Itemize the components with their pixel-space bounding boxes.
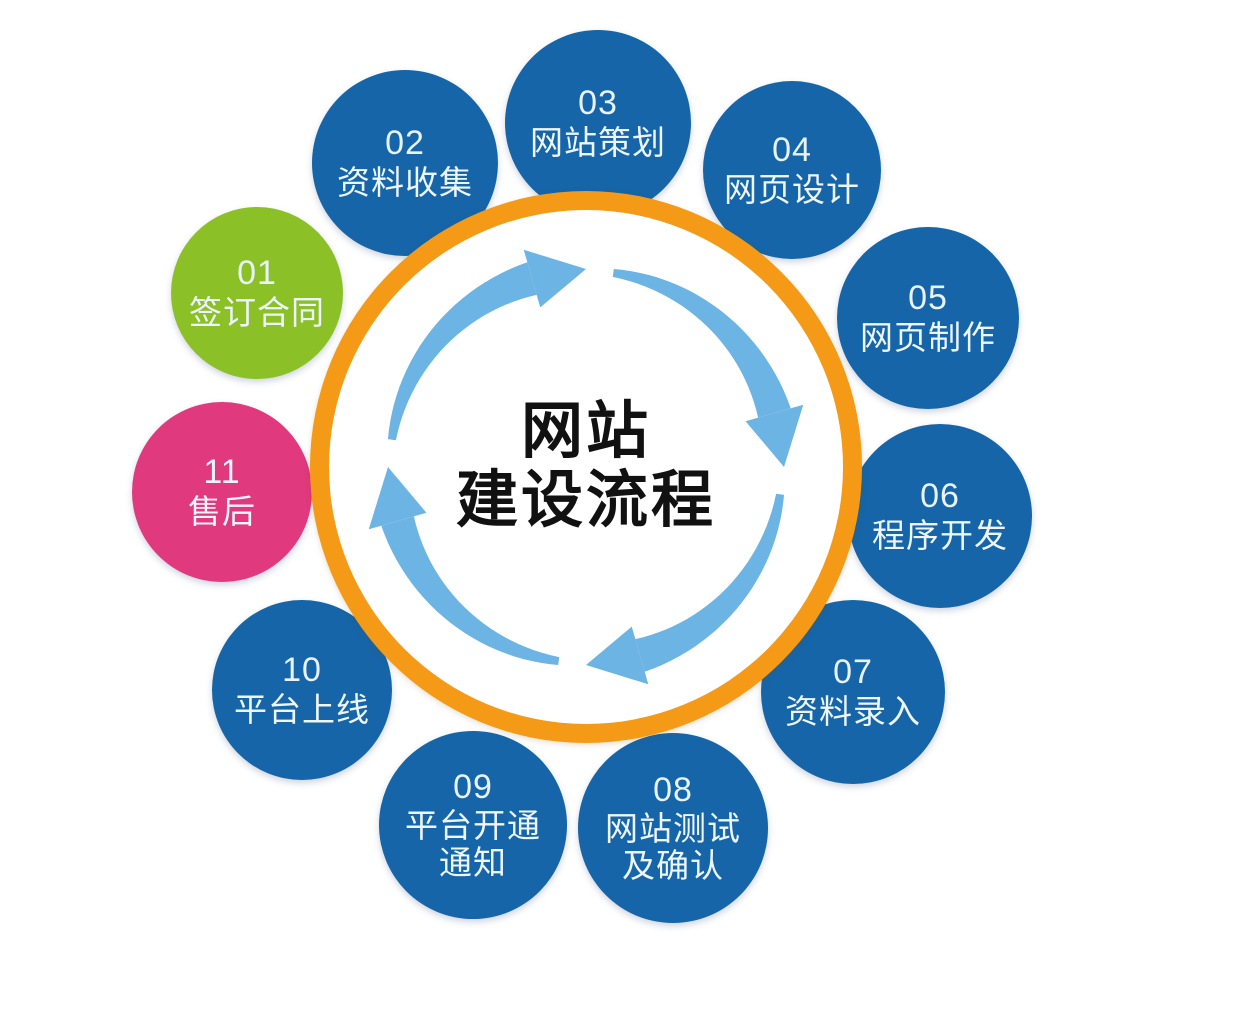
cycle-arrow-head-2 (586, 627, 648, 685)
cycle-arrow-shaft-1 (613, 269, 791, 418)
step-label: 网站测试 (605, 811, 741, 848)
cycle-arrows-group (310, 191, 862, 743)
cycle-arrow-head-4 (524, 250, 586, 308)
step-number: 05 (908, 279, 948, 317)
step-number: 01 (237, 254, 277, 292)
step-label: 签订合同 (189, 295, 325, 332)
step-label: 网站策划 (530, 125, 666, 162)
step-label-line2: 及确认 (622, 848, 724, 885)
step-number: 09 (453, 768, 493, 806)
process-step-11[interactable]: 11售后 (132, 402, 312, 582)
step-label: 程序开发 (872, 518, 1008, 555)
central-cycle-ring: 网站 建设流程 (310, 191, 862, 743)
process-step-09[interactable]: 09平台开通通知 (379, 731, 567, 919)
step-label: 网页制作 (860, 320, 996, 357)
process-step-03[interactable]: 03网站策划 (505, 30, 691, 216)
step-label: 售后 (188, 494, 256, 531)
cycle-arrow-head-1 (746, 405, 804, 467)
process-step-06[interactable]: 06程序开发 (848, 424, 1032, 608)
step-number: 08 (653, 771, 693, 809)
cycle-arrow-shaft-3 (381, 516, 559, 665)
website-build-process-diagram: 01签订合同02资料收集03网站策划04网页设计05网页制作06程序开发07资料… (0, 0, 1241, 1009)
step-label: 平台开通 (405, 808, 541, 845)
process-step-08[interactable]: 08网站测试及确认 (578, 733, 768, 923)
cycle-arrow-shaft-2 (635, 494, 784, 672)
cycle-arrow-head-3 (369, 467, 427, 529)
step-label-line2: 通知 (439, 845, 507, 882)
step-number: 02 (385, 124, 425, 162)
step-number: 04 (772, 131, 812, 169)
step-number: 11 (203, 453, 240, 491)
step-number: 03 (578, 84, 618, 122)
cycle-arrow-shaft-4 (388, 262, 537, 440)
step-number: 06 (920, 477, 960, 515)
process-step-05[interactable]: 05网页制作 (837, 227, 1019, 409)
